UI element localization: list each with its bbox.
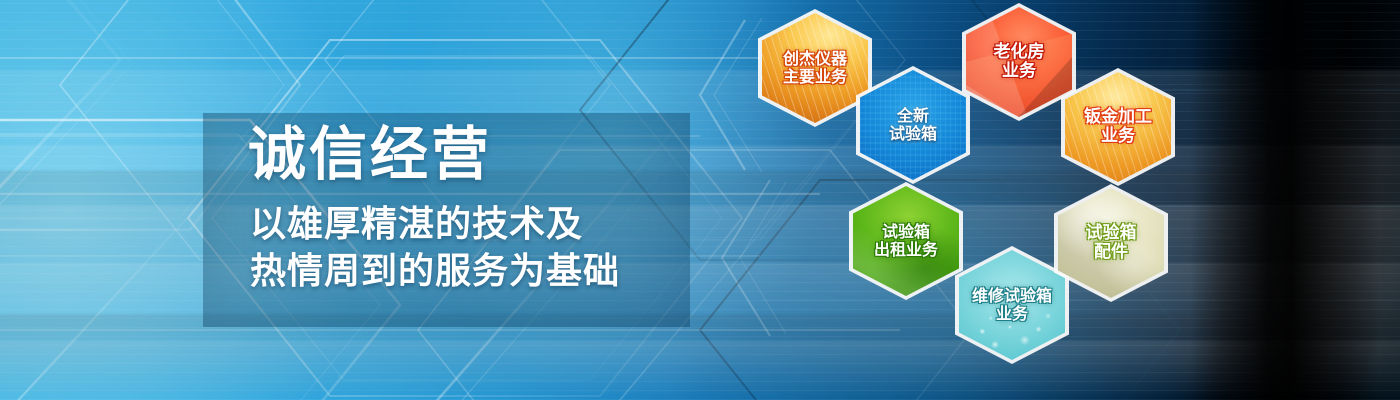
promo-banner: 诚信经营 以雄厚精湛的技术及 热情周到的服务为基础 创杰仪器 主要业务 全新 试… [0,0,1400,400]
hexagon-label-main-business: 创杰仪器 主要业务 [783,50,847,86]
hexagon-tile-chamber-repair[interactable]: 维修试验箱 业务 [955,246,1069,364]
hexagon-label-new-chamber: 全新 试验箱 [889,107,937,143]
hexagon-label-chamber-repair: 维修试验箱 业务 [972,287,1052,323]
hexagon-label-chamber-rental: 试验箱 出租业务 [874,223,938,259]
hexagon-tile-aging-room[interactable]: 老化房 业务 [962,3,1076,121]
hexagon-tile-chamber-parts[interactable]: 试验箱 配件 [1054,184,1168,302]
hexagon-tile-chamber-rental[interactable]: 试验箱 出租业务 [849,182,963,300]
hexagon-label-sheet-metal: 钣金加工 业务 [1084,108,1152,147]
hexagon-label-aging-room: 老化房 业务 [994,43,1045,82]
hexagon-label-chamber-parts: 试验箱 配件 [1086,224,1137,263]
service-hexagon-cluster: 创杰仪器 主要业务 全新 试验箱 老化房 业务 钣金加工 业务 试验箱 出租业务 [0,0,1400,400]
hexagon-tile-main-business[interactable]: 创杰仪器 主要业务 [758,9,872,127]
hexagon-tile-new-chamber[interactable]: 全新 试验箱 [856,66,970,184]
hexagon-tile-sheet-metal[interactable]: 钣金加工 业务 [1061,68,1175,186]
